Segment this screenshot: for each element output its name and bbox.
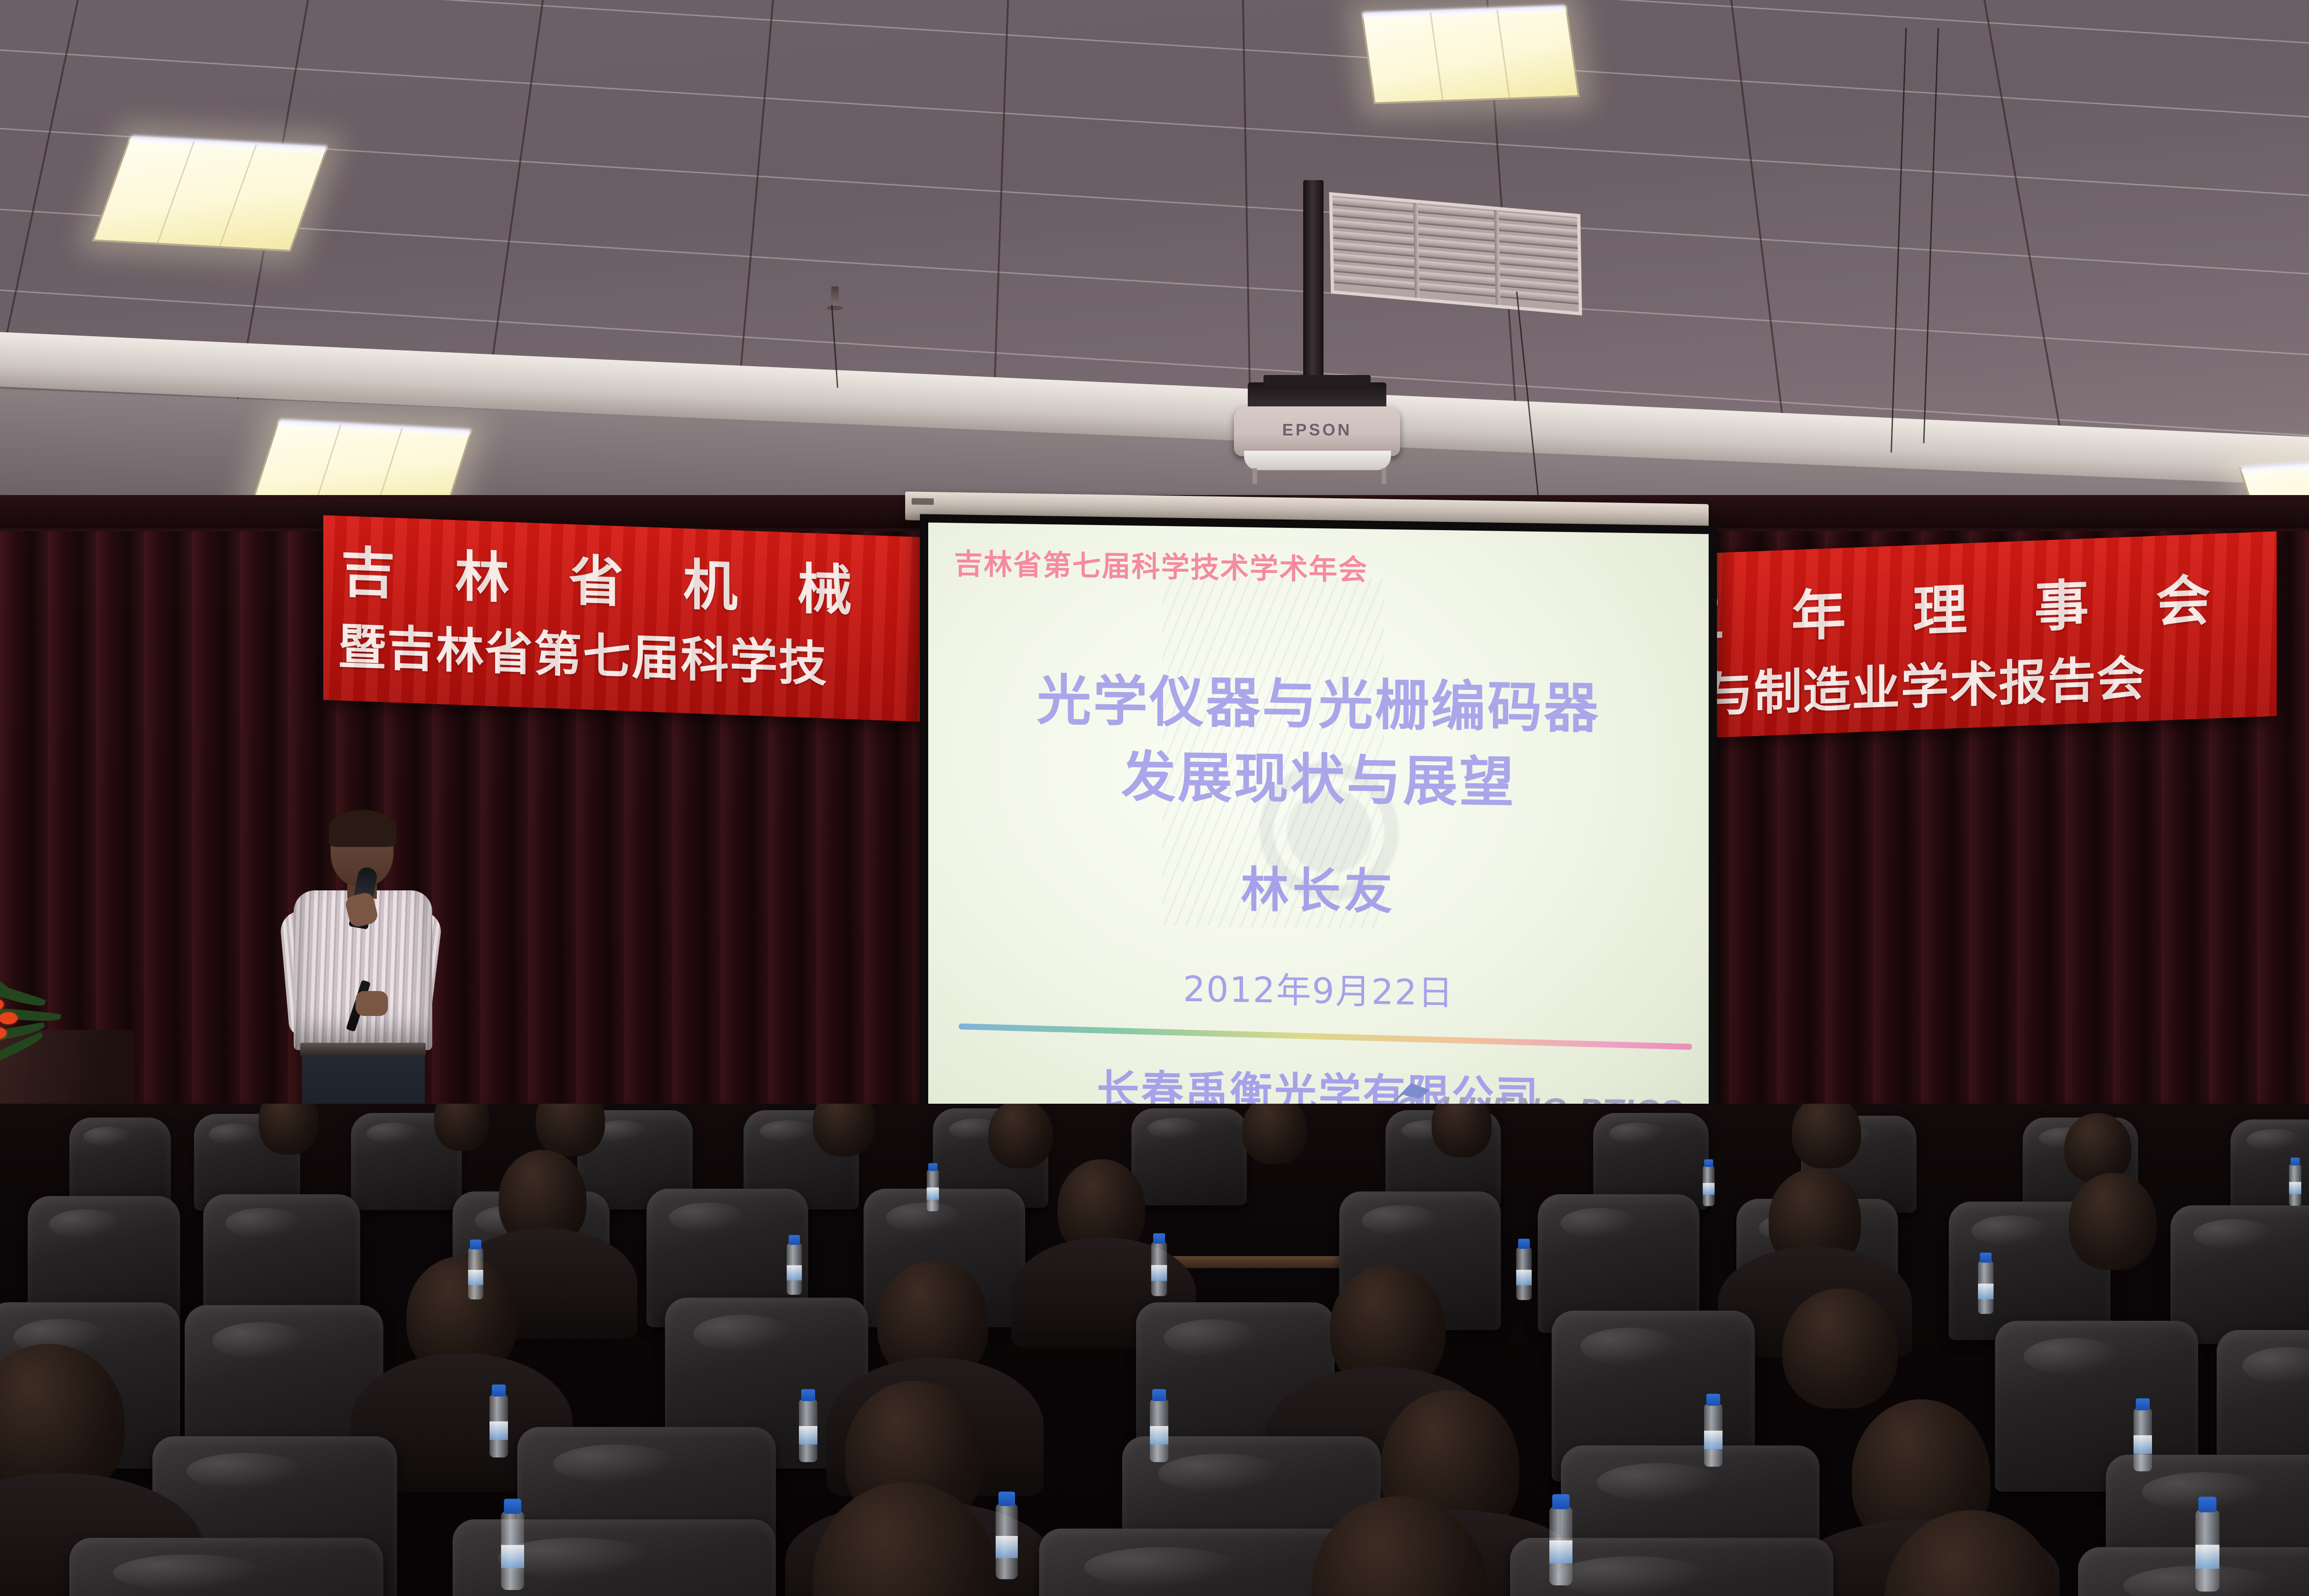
presenter-hair: [329, 810, 396, 847]
audience-head: [988, 1104, 1053, 1168]
projector-lens-housing: [1244, 451, 1391, 470]
water-bottle: [1516, 1247, 1532, 1300]
water-bottle: [1151, 1242, 1167, 1296]
seat: [1131, 1108, 1247, 1205]
slide-title: 光学仪器与光栅编码器 发展现状与展望: [928, 661, 1709, 823]
audience-head: [1783, 1288, 1898, 1409]
water-bottle: [799, 1399, 817, 1462]
projector-bracket: [1248, 382, 1386, 410]
banner-right: 二 年 理 事 会 学与制造业学术报告会: [1662, 531, 2277, 739]
audience-head: [813, 1104, 875, 1156]
projector-mount-pole: [1303, 180, 1324, 386]
water-bottle: [1703, 1166, 1715, 1206]
flower-arrangement: [0, 970, 88, 1090]
seat: [2170, 1205, 2309, 1344]
audience-head: [536, 1104, 605, 1156]
banner-left: 吉 林 省 机 械 暨吉林省第七届科学技: [323, 515, 937, 723]
seat: [2078, 1547, 2309, 1596]
water-bottle: [2289, 1164, 2301, 1206]
projector-brand-label: EPSON: [1234, 420, 1400, 440]
audience-head: [2069, 1173, 2157, 1270]
slide-date: 2012年9月22日: [928, 956, 1709, 1019]
water-bottle: [501, 1511, 524, 1590]
water-bottle: [1549, 1507, 1572, 1585]
water-bottle: [927, 1170, 939, 1211]
slide-author: 林长友: [928, 846, 1709, 927]
projector-body: EPSON: [1234, 406, 1400, 456]
audience-head: [434, 1104, 490, 1151]
water-bottle: [468, 1248, 484, 1300]
water-bottle: [1978, 1261, 1994, 1314]
water-bottle: [2195, 1510, 2219, 1592]
water-bottle: [787, 1243, 802, 1295]
water-bottle: [996, 1504, 1018, 1579]
water-bottle: [490, 1395, 508, 1457]
water-bottle: [1704, 1404, 1723, 1467]
slide-title-line1: 光学仪器与光栅编码器: [928, 661, 1709, 748]
audience-head: [1242, 1104, 1307, 1164]
water-bottle: [2134, 1409, 2152, 1471]
presenter-hand-holding-pointer: [356, 991, 388, 1016]
conference-hall-photo: EPSON 吉 林 省 机 械 暨吉林省第七届科学技 二 年 理 事 会 学与制…: [0, 0, 2309, 1596]
audience-head: [259, 1104, 319, 1155]
ceiling-light-panel: [92, 136, 328, 252]
presenter-belt: [300, 1043, 426, 1057]
presenter: [277, 813, 443, 1136]
sprinkler-head: [831, 286, 839, 307]
slide-title-line2: 发展现状与展望: [928, 736, 1709, 823]
projection-screen-frame: 吉林省第七届科学技术学术年会 光学仪器与光栅编码器 发展现状与展望 林长友 20…: [920, 514, 1717, 1152]
ceiling-light-panel: [1361, 6, 1580, 104]
audience-head: [2064, 1113, 2131, 1182]
slide-header-text: 吉林省第七届科学技术学术年会: [954, 540, 1368, 588]
water-bottle: [1150, 1399, 1168, 1462]
audience-head: [1792, 1104, 1861, 1168]
audience-head: [1432, 1104, 1492, 1157]
audience-seating: [0, 1104, 2309, 1596]
projection-screen-surface: 吉林省第七届科学技术学术年会 光学仪器与光栅编码器 发展现状与展望 林长友 20…: [928, 522, 1709, 1143]
ceiling: [0, 0, 2309, 550]
seat: [69, 1538, 383, 1596]
slide-divider-rule: [959, 1023, 1692, 1050]
